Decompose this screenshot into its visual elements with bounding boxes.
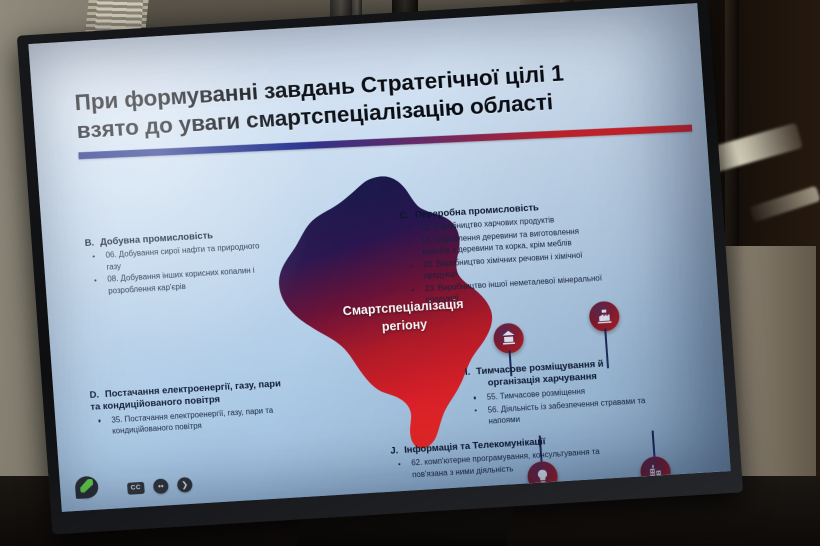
television: При формуванні завдань Стратегічної цілі…	[17, 0, 743, 534]
tv-screen[interactable]: При формуванні завдань Стратегічної цілі…	[28, 3, 730, 512]
closed-captions-icon[interactable]: CC	[127, 481, 145, 494]
pin-accommodation-catering[interactable]	[639, 456, 671, 488]
section-b-letter: B.	[84, 236, 94, 248]
tv-bezel: При формуванні завдань Стратегічної цілі…	[17, 0, 743, 534]
section-i-accommodation-catering: I.Тимчасове розміщування й організація х…	[465, 355, 654, 428]
section-b-list: 06. Добування сирої нафти та природного …	[85, 240, 270, 297]
pin-stem	[652, 431, 655, 457]
pen-tool-icon[interactable]	[74, 475, 102, 501]
media-control-bar[interactable]: ❮ CC •• ❯	[78, 477, 193, 499]
section-d-letter: D.	[89, 388, 99, 400]
hotel-icon	[639, 456, 671, 488]
presentation-slide: При формуванні завдань Стратегічної цілі…	[28, 3, 730, 512]
pin-processing-industry[interactable]	[588, 301, 620, 333]
section-c-processing-industry: C.Переробна промисловість 10. Виробництв…	[399, 197, 611, 307]
section-i-letter: I.	[465, 366, 471, 377]
pin-mining-industry[interactable]	[493, 322, 525, 354]
more-icon[interactable]: ••	[153, 478, 169, 494]
section-j-letter: J.	[390, 444, 399, 455]
forward-arrow-icon[interactable]: ❯	[177, 477, 193, 493]
section-b-mining-industry: B.Добувна промисловість 06. Добування си…	[84, 226, 270, 298]
section-c-list: 10. Виробництво харчових продуктів 16. О…	[400, 212, 611, 307]
section-c-letter: C.	[399, 209, 409, 221]
